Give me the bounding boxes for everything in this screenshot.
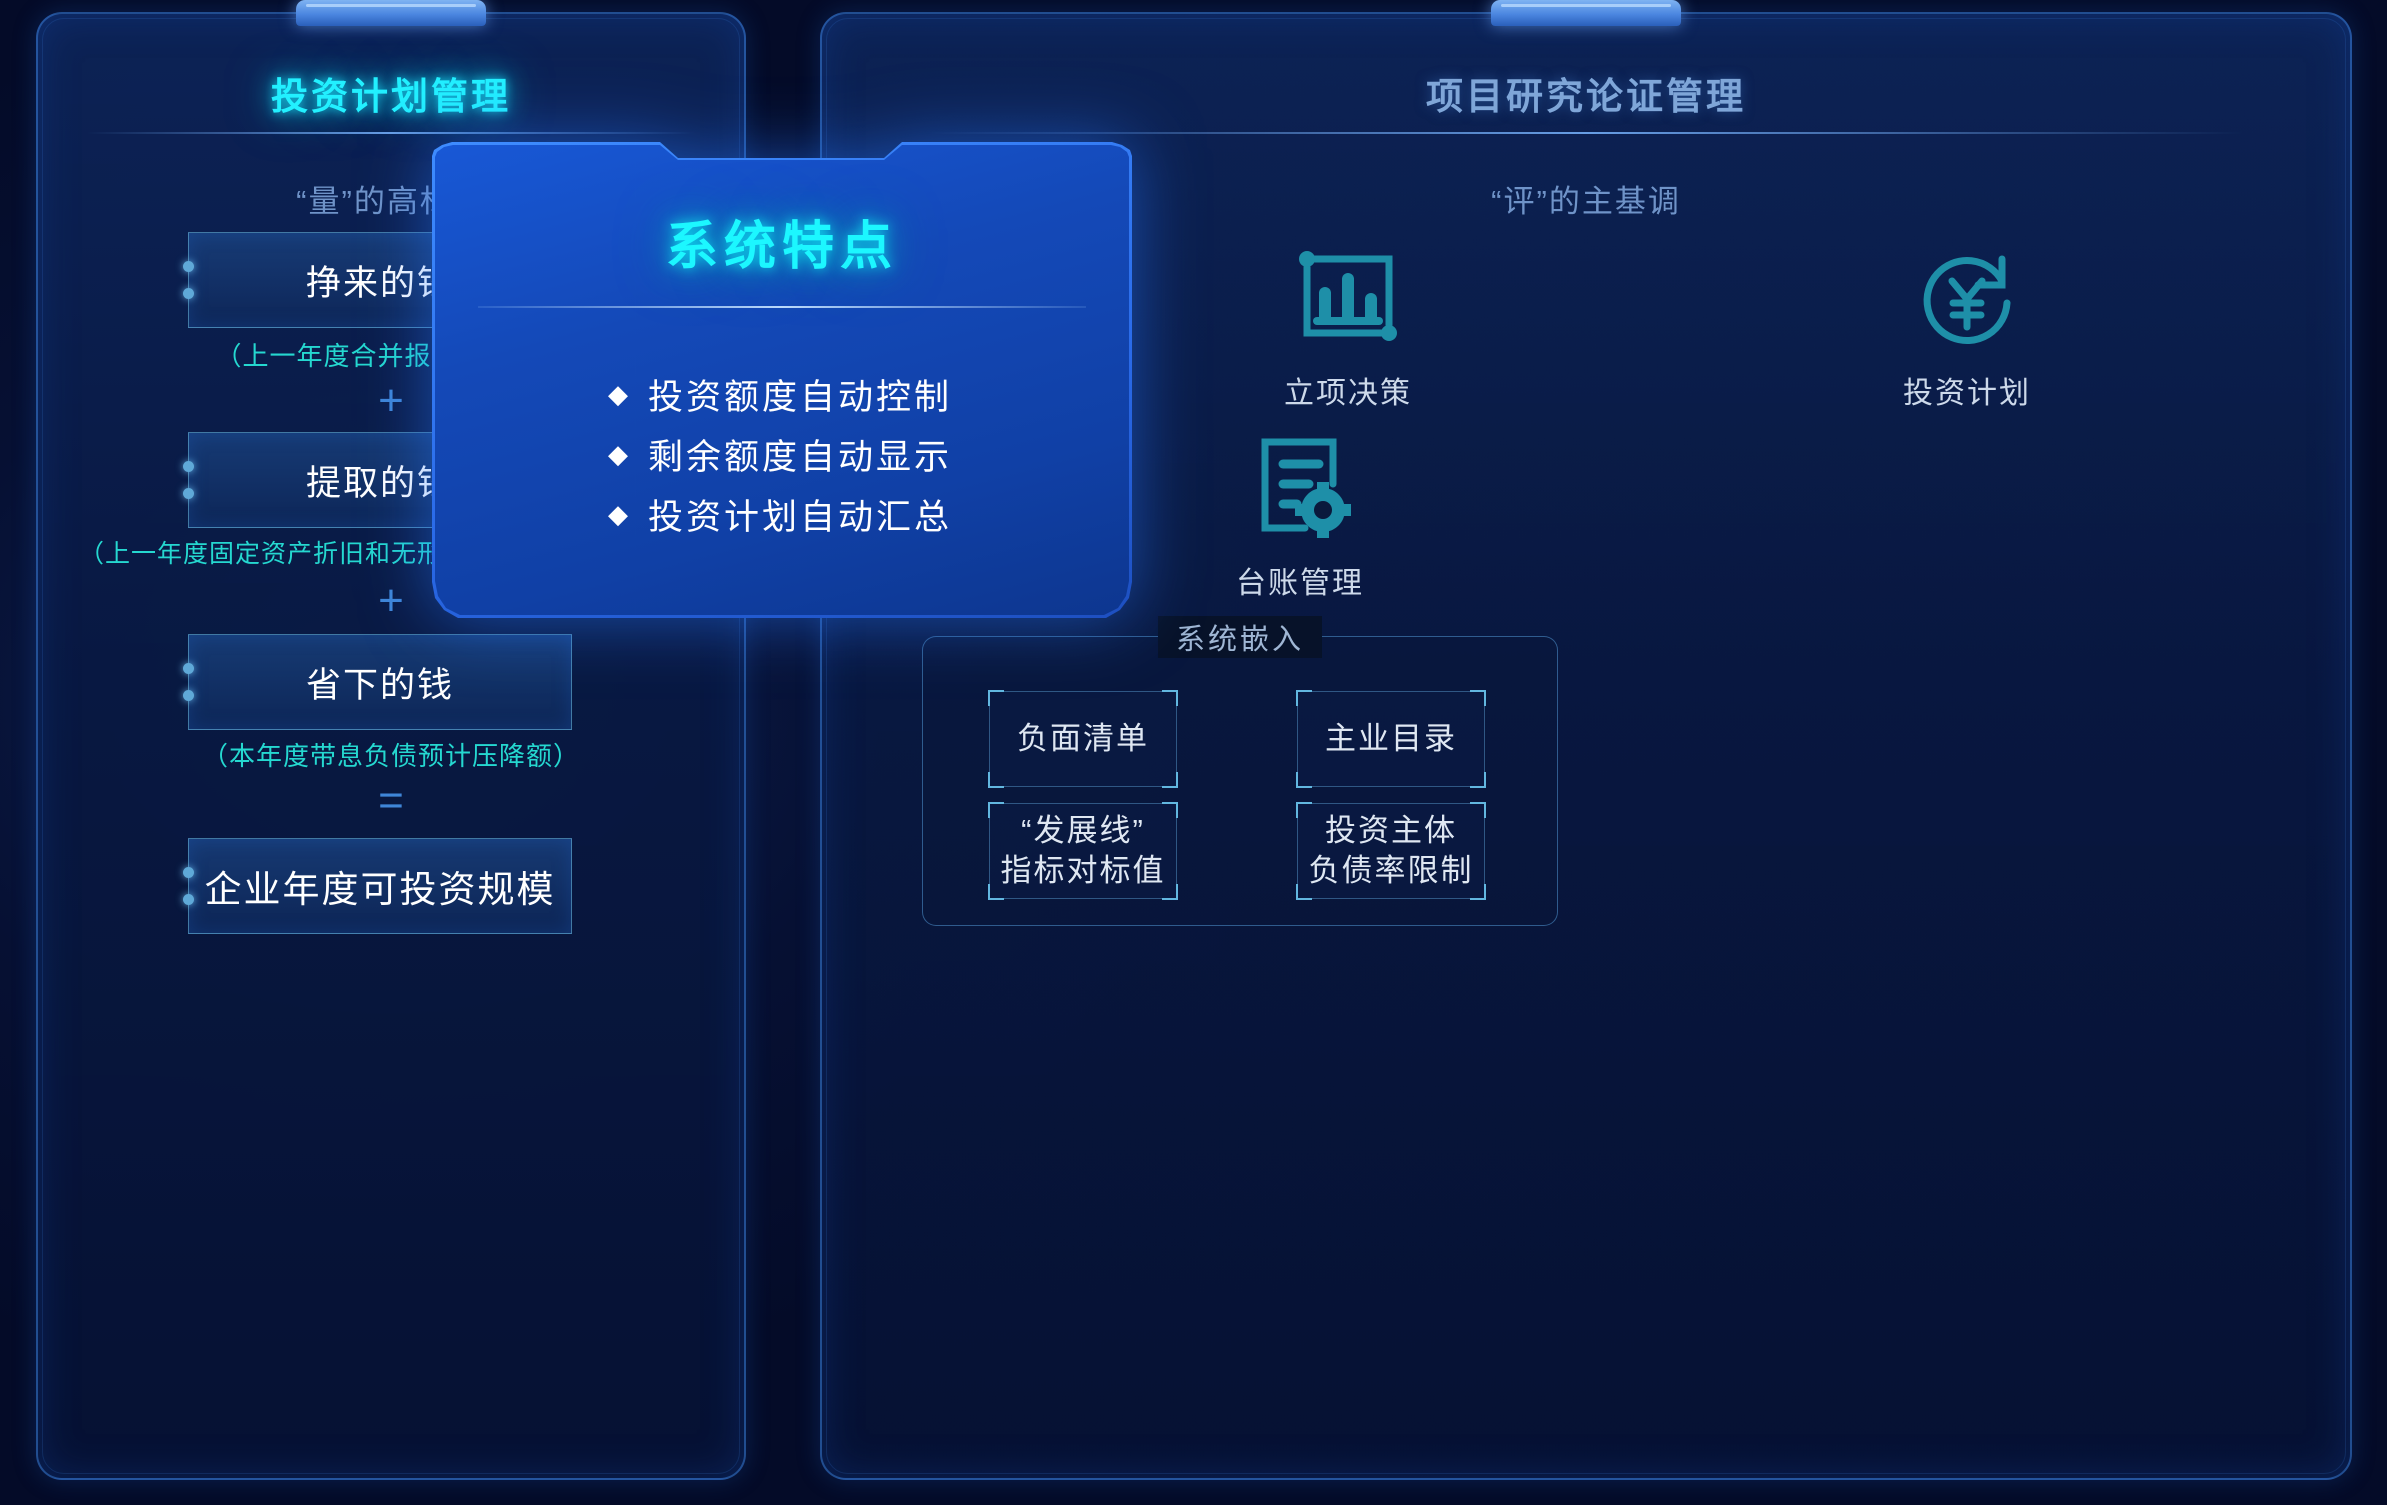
popup-feature-label: 投资计划自动汇总: [648, 489, 952, 540]
diamond-bullet-icon: ◆: [608, 379, 648, 410]
popup-feature-item[interactable]: ◆ 剩余额度自动显示: [432, 424, 1132, 484]
flow-box-label: 企业年度可投资规模: [205, 859, 556, 913]
diamond-bullet-icon: ◆: [608, 499, 648, 530]
embed-item-label: 负面清单: [1017, 719, 1149, 759]
node-dot: [183, 867, 194, 878]
corner-bracket-icon: [988, 690, 1004, 706]
corner-bracket-icon: [1162, 802, 1178, 818]
corner-bracket-icon: [988, 884, 1004, 900]
corner-bracket-icon: [1470, 690, 1486, 706]
yen-circle-icon: [1862, 236, 2072, 356]
popup-title-rule: [478, 306, 1086, 308]
icon-caption: 投资计划: [1862, 368, 2072, 412]
slide-canvas: 投资计划管理 “量”的高标准 挣来的钱 （上一年度合并报表净利润） + 提取的钱…: [0, 0, 2387, 1505]
icon-cell-investment-plan[interactable]: 投资计划: [1862, 236, 2072, 412]
popup-feature-label: 剩余额度自动显示: [648, 429, 952, 480]
corner-bracket-icon: [1470, 802, 1486, 818]
left-panel-title: 投资计划管理: [38, 66, 744, 120]
panel-tab-handle-left[interactable]: [296, 0, 486, 26]
icon-cell-ledger-management[interactable]: 台账管理: [1195, 426, 1405, 602]
popup-feature-item[interactable]: ◆ 投资计划自动汇总: [432, 484, 1132, 544]
embed-item-label-line1: 投资主体: [1325, 811, 1457, 851]
embed-item-label-line2: 负债率限制: [1309, 851, 1474, 891]
right-panel-title-rule: [929, 132, 2243, 134]
embed-item-investor-debt-ratio[interactable]: 投资主体 负债率限制: [1297, 803, 1485, 899]
popup-feature-list: ◆ 投资额度自动控制 ◆ 剩余额度自动显示 ◆ 投资计划自动汇总: [432, 364, 1132, 544]
corner-bracket-icon: [988, 802, 1004, 818]
corner-bracket-icon: [988, 772, 1004, 788]
icon-caption: 台账管理: [1195, 558, 1405, 602]
embed-item-label-line2: 指标对标值: [1001, 851, 1166, 891]
flow-box-saved-money[interactable]: 省下的钱: [188, 634, 572, 730]
diamond-bullet-icon: ◆: [608, 439, 648, 470]
flow-box-annual-investable-scale[interactable]: 企业年度可投资规模: [188, 838, 572, 934]
panel-tab-handle-right[interactable]: [1491, 0, 1681, 26]
corner-bracket-icon: [1296, 772, 1312, 788]
embed-item-development-line[interactable]: “发展线” 指标对标值: [989, 803, 1177, 899]
flow-operator-equals: =: [38, 776, 744, 826]
corner-bracket-icon: [1470, 884, 1486, 900]
system-embed-legend: 系统嵌入: [1158, 616, 1322, 658]
corner-bracket-icon: [1296, 884, 1312, 900]
embed-item-label-line1: “发展线”: [1021, 811, 1145, 851]
popup-feature-item[interactable]: ◆ 投资额度自动控制: [432, 364, 1132, 424]
flow-box-label: 省下的钱: [306, 657, 454, 708]
corner-bracket-icon: [1296, 802, 1312, 818]
node-dot: [183, 663, 194, 674]
corner-bracket-icon: [1470, 772, 1486, 788]
icon-cell-project-approval[interactable]: 立项决策: [1243, 236, 1453, 412]
embed-item-label: 主业目录: [1325, 719, 1457, 759]
corner-bracket-icon: [1162, 690, 1178, 706]
corner-bracket-icon: [1162, 884, 1178, 900]
popup-title: 系统特点: [432, 204, 1132, 279]
corner-bracket-icon: [1296, 690, 1312, 706]
embed-item-main-business-catalog[interactable]: 主业目录: [1297, 691, 1485, 787]
node-dot: [183, 288, 194, 299]
node-dot: [183, 894, 194, 905]
document-gear-icon: [1195, 426, 1405, 546]
right-panel-title: 项目研究论证管理: [822, 66, 2350, 120]
node-dot: [183, 461, 194, 472]
system-features-popup[interactable]: 系统特点 ◆ 投资额度自动控制 ◆ 剩余额度自动显示 ◆ 投资计划自动汇总: [432, 142, 1132, 620]
popup-feature-label: 投资额度自动控制: [648, 369, 952, 420]
node-dot: [183, 690, 194, 701]
node-dot: [183, 488, 194, 499]
system-embed-group: 系统嵌入 负面清单 主业目录 “发展线” 指: [922, 636, 1558, 926]
corner-bracket-icon: [1162, 772, 1178, 788]
icon-caption: 立项决策: [1243, 368, 1453, 412]
node-dot: [183, 261, 194, 272]
embed-item-negative-list[interactable]: 负面清单: [989, 691, 1177, 787]
left-panel-title-rule: [87, 132, 694, 134]
bar-chart-frame-icon: [1243, 236, 1453, 356]
flow-note-saved-money: （本年度带息负债预计压降额）: [38, 736, 744, 773]
